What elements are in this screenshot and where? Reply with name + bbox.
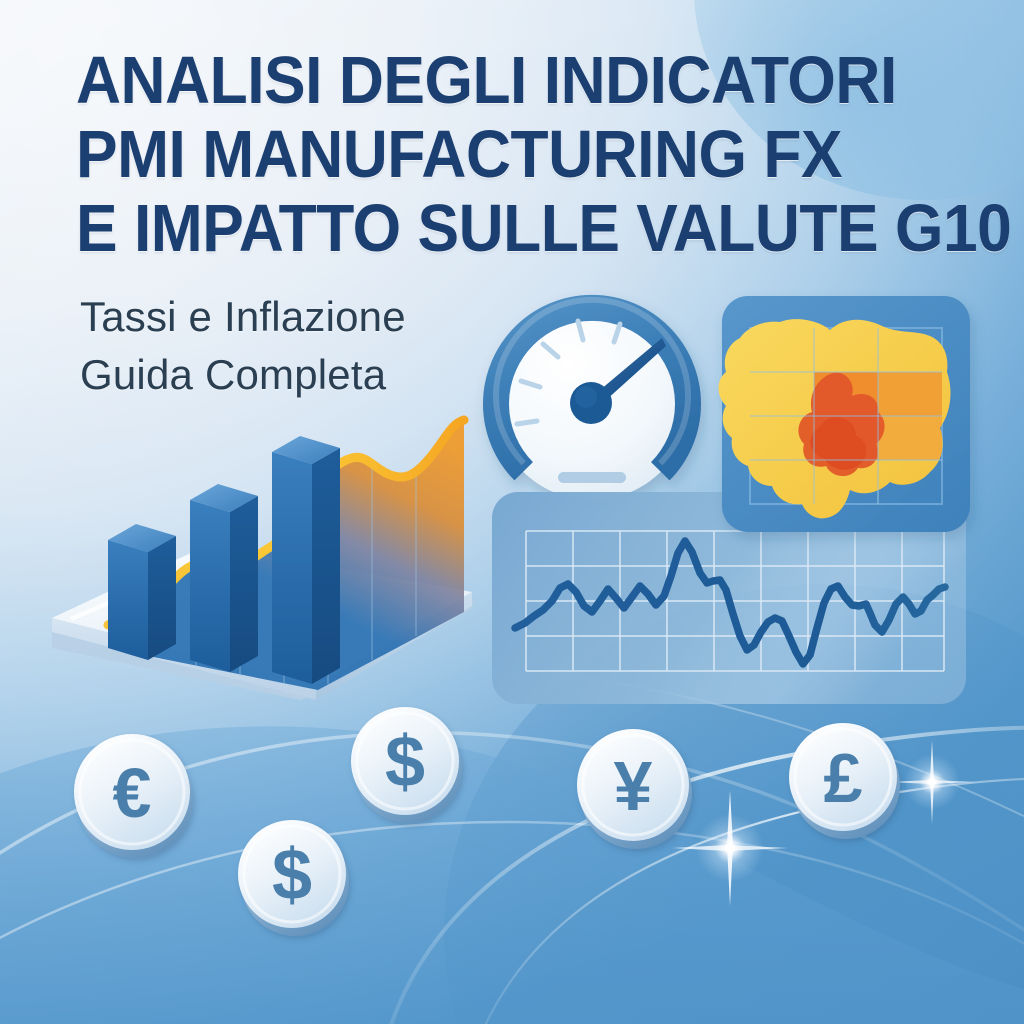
yen-symbol: ¥	[614, 747, 653, 825]
dollar-coin-2: $	[238, 820, 349, 936]
illustration-svg: € $ $	[0, 0, 1024, 1024]
coin-group: € $ $	[74, 707, 900, 936]
poster-canvas: ANALISI DEGLI INDICATORI PMI MANUFACTURI…	[0, 0, 1024, 1024]
sparkle-right	[888, 740, 976, 824]
bar-item	[190, 484, 258, 672]
pound-coin: £	[789, 723, 900, 839]
map-region-mid	[878, 372, 942, 416]
illustration-stage: € $ $	[0, 0, 1024, 1024]
gauge-hub-highlight	[575, 386, 597, 408]
bar-chart-illustration	[52, 420, 474, 700]
gauge-illustration	[494, 300, 690, 500]
dollar-symbol: $	[272, 835, 312, 915]
dollar-coin: $	[351, 707, 462, 823]
euro-coin: €	[74, 734, 193, 858]
map-panel	[719, 296, 971, 532]
bar-item	[272, 436, 340, 684]
dollar-symbol: $	[385, 722, 425, 802]
euro-symbol: €	[113, 754, 152, 832]
gauge-base-bar	[558, 472, 626, 483]
yen-coin: ¥	[577, 729, 692, 849]
map-region-mid	[878, 416, 942, 460]
bar-item	[108, 524, 176, 660]
pound-symbol: £	[824, 739, 863, 817]
